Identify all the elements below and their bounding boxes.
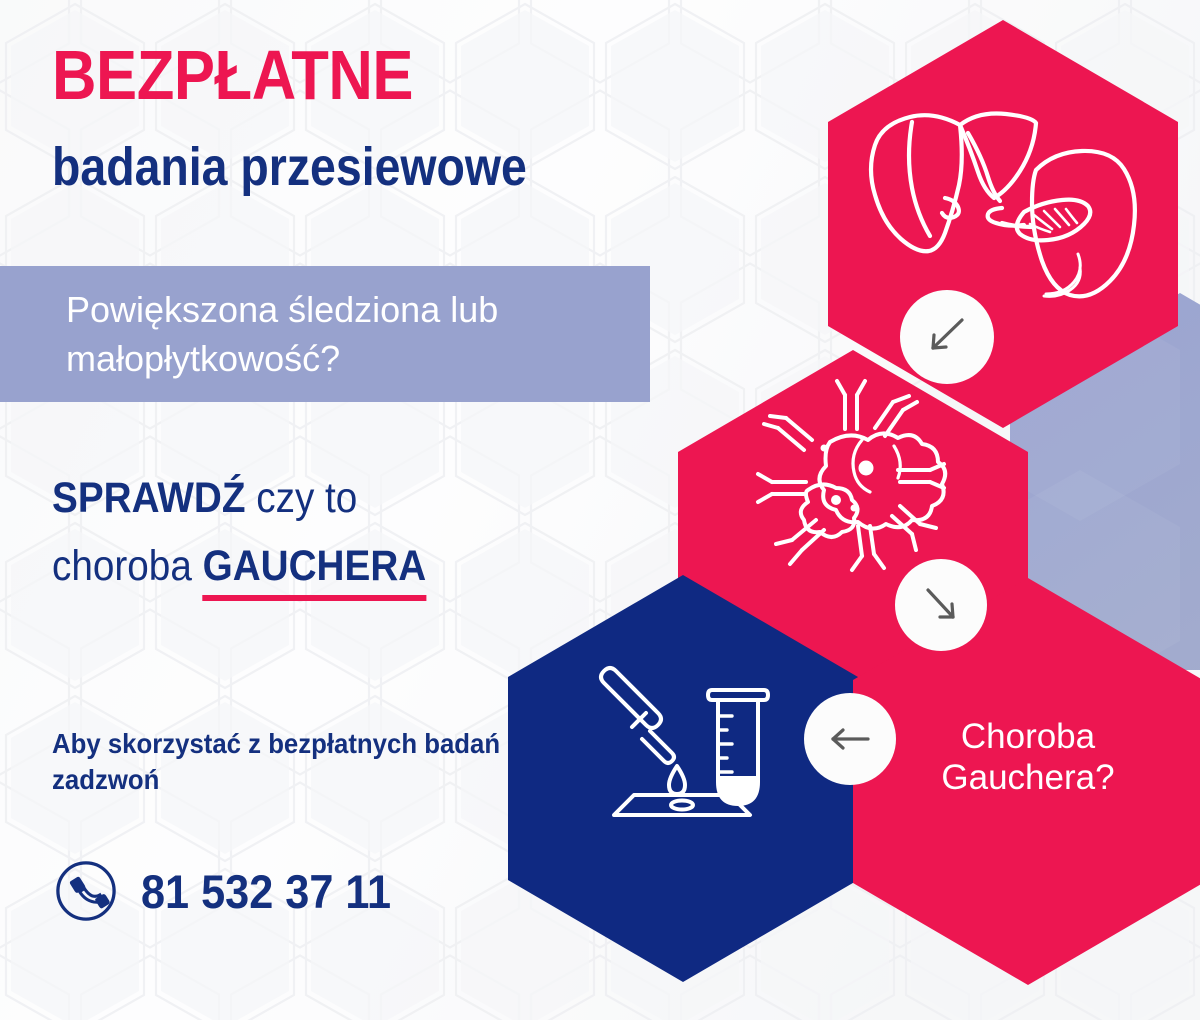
- connector-arrow-2: [895, 559, 987, 651]
- connector-arrow-3: [804, 693, 896, 785]
- hexagon-diagram: Choroba Gauchera?: [0, 0, 1200, 1020]
- hexagon-diagnosis-label-line2: Gauchera?: [941, 758, 1114, 797]
- hexagon-diagnosis-label-line1: Choroba: [961, 717, 1096, 756]
- connector-arrow-1: [900, 290, 994, 384]
